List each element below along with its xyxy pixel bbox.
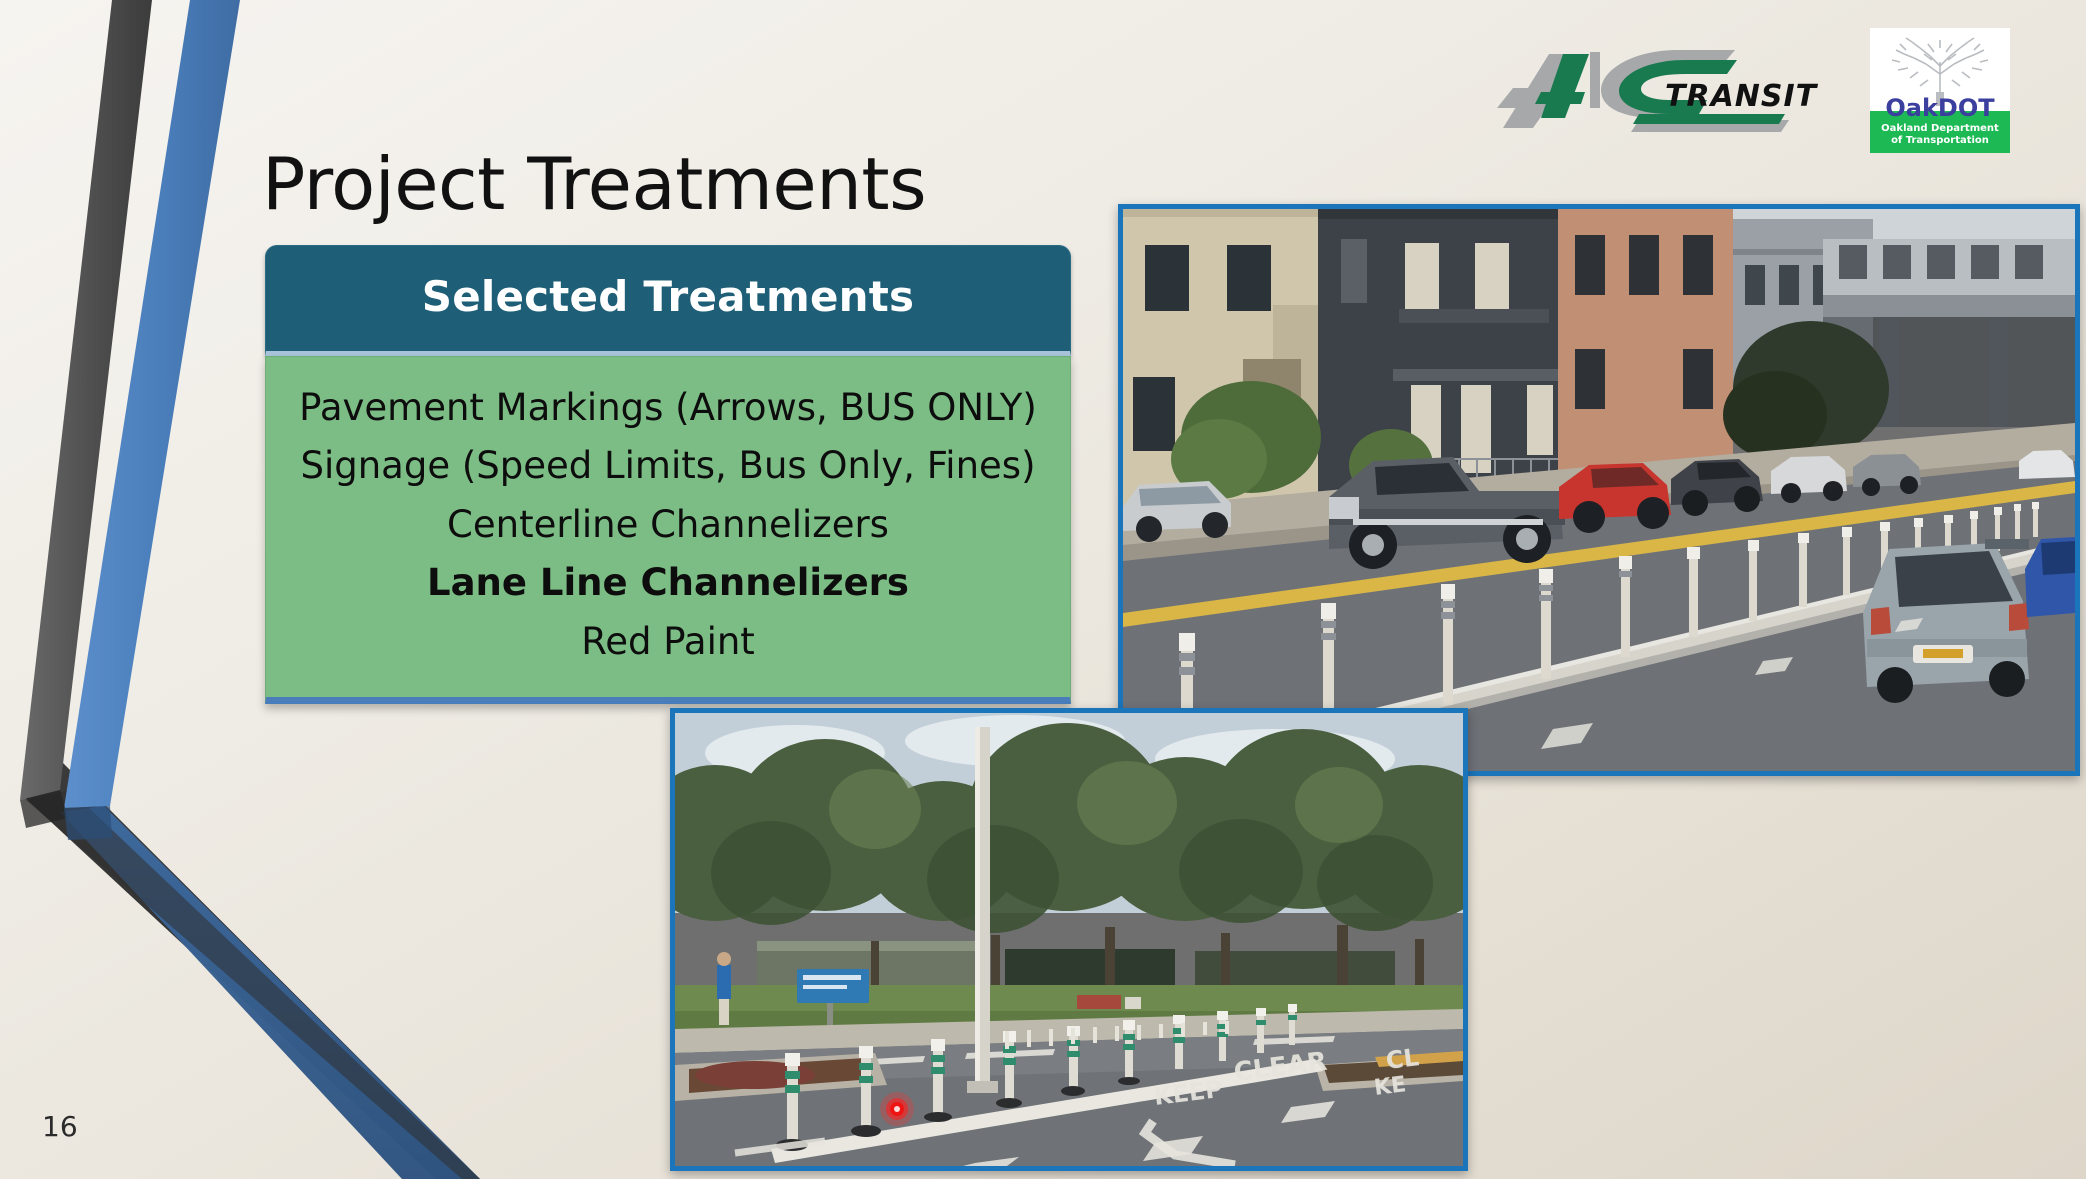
svg-text:Oakland Department: Oakland Department <box>1881 123 1999 134</box>
list-item: Lane Line Channelizers <box>276 554 1060 612</box>
svg-text:TRANSIT: TRANSIT <box>1665 79 1819 114</box>
list-item: Red Paint <box>276 613 1060 671</box>
ac-transit-logo: TRANSIT <box>1489 42 1819 132</box>
svg-text:KE: KE <box>1373 1072 1408 1101</box>
laser-pointer-dot <box>880 1092 914 1126</box>
selected-treatments-card: Selected Treatments Pavement Markings (A… <box>265 245 1071 704</box>
list-item: Signage (Speed Limits, Bus Only, Fines) <box>276 437 1060 495</box>
selected-treatments-list: Pavement Markings (Arrows, BUS ONLY) Sig… <box>265 356 1071 704</box>
svg-text:CL: CL <box>1384 1043 1420 1075</box>
photo-bus-lane <box>1118 204 2080 776</box>
svg-text:of Transportation: of Transportation <box>1891 135 1989 146</box>
page-number: 16 <box>42 1110 78 1143</box>
page-title: Project Treatments <box>262 142 926 226</box>
photo-channelizers-image: CLEAR KEEP CL KE <box>675 713 1463 1166</box>
photo-channelizers: CLEAR KEEP CL KE <box>670 708 1468 1171</box>
photo-bus-lane-image <box>1123 209 2075 771</box>
list-item: Pavement Markings (Arrows, BUS ONLY) <box>276 379 1060 437</box>
list-item: Centerline Channelizers <box>276 496 1060 554</box>
oakdot-logo: OakDOT Oakland Department of Transportat… <box>1870 28 2010 153</box>
selected-treatments-header: Selected Treatments <box>265 245 1071 356</box>
selected-treatments-header-title: Selected Treatments <box>266 272 1070 321</box>
svg-text:OakDOT: OakDOT <box>1885 94 1995 122</box>
